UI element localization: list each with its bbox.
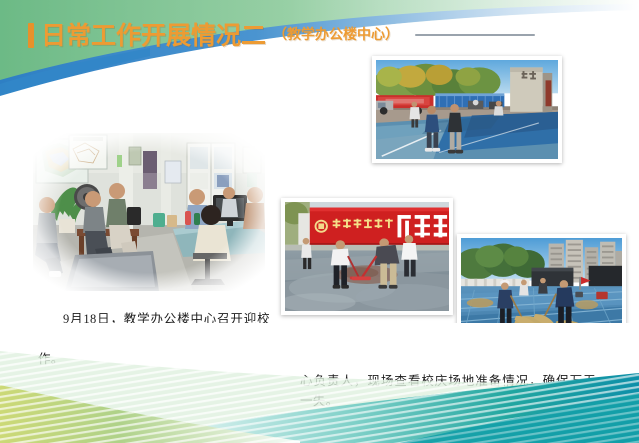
caption-right-text: 近日，为保障校庆活动顺利进行，教学办公楼中心负责人，现场查看校庆场地准备情况，确… — [300, 351, 596, 412]
slide-header: 日常工作开展情况二 （教学办公楼中心） — [0, 14, 639, 56]
page-title: 日常工作开展情况二 — [41, 23, 266, 48]
court-sweeping-photo — [457, 234, 626, 343]
page-subtitle: （教学办公楼中心） — [273, 24, 399, 46]
court-cleaning-banner-photo — [281, 198, 453, 315]
title-bar-mark-icon — [28, 23, 34, 48]
slide-canvas: 日常工作开展情况二 （教学办公楼中心） — [0, 0, 639, 443]
title-divider-rule — [415, 34, 535, 36]
campus-court-inspection-photo — [372, 56, 562, 163]
office-meeting-photo — [33, 133, 265, 291]
caption-left-text: 9月18日，教学办公楼中心召开迎校庆专题会议，安排部署保障校庆相关工作。 — [38, 309, 270, 370]
